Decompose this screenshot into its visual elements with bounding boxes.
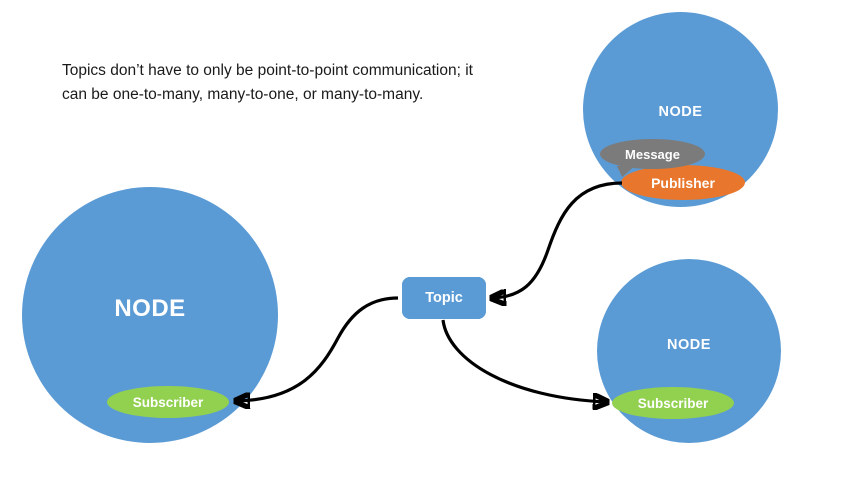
node-label-bottom-right: NODE <box>597 337 781 353</box>
node-label-left: NODE <box>22 295 278 323</box>
connector-topic-to-subscriber-right <box>443 320 607 402</box>
caption-text: Topics don’t have to only be point-to-po… <box>62 59 482 107</box>
publisher-pill[interactable]: Publisher <box>621 165 745 200</box>
node-label-top-right: NODE <box>583 104 778 120</box>
message-callout[interactable]: Message <box>600 139 705 169</box>
subscriber-pill-left[interactable]: Subscriber <box>107 386 229 418</box>
topic-box[interactable]: Topic <box>402 277 486 319</box>
subscriber-pill-right[interactable]: Subscriber <box>612 387 734 419</box>
diagram-canvas: Topics don’t have to only be point-to-po… <box>0 0 854 480</box>
connector-publisher-to-topic <box>492 183 622 298</box>
